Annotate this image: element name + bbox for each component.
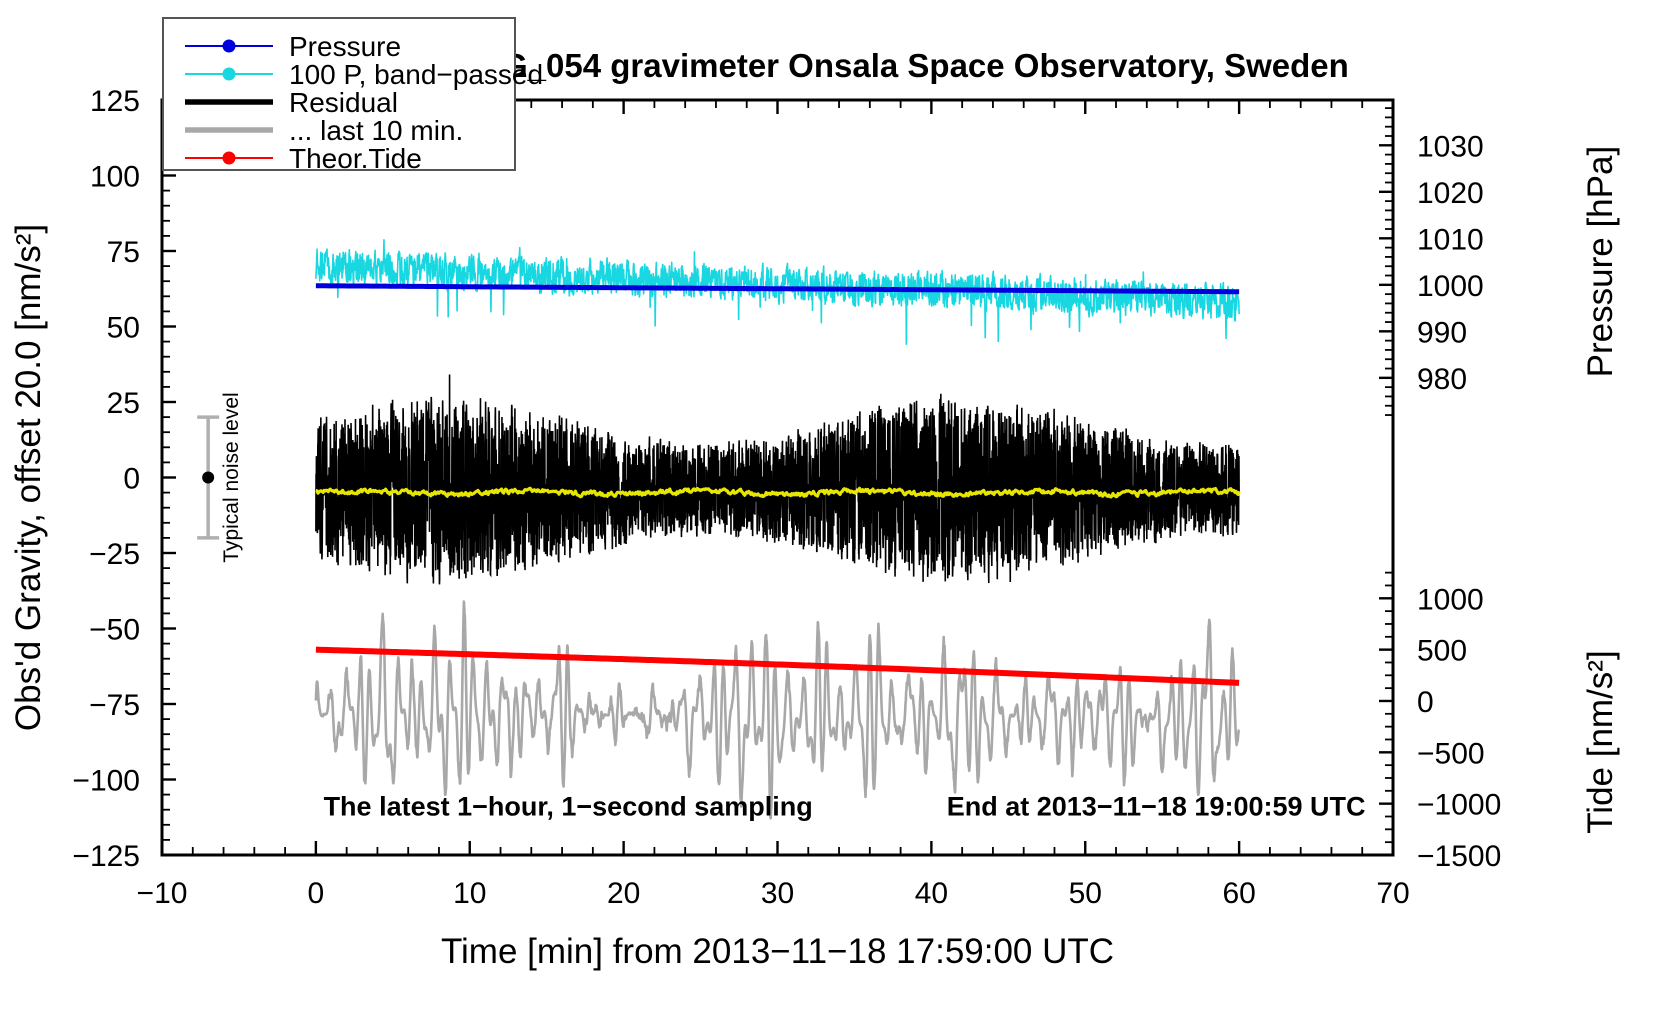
pressure-tick-label: 1000 [1417,270,1484,303]
legend-marker-1 [223,40,236,53]
y-tick-label: 25 [107,387,140,420]
tide-tick-label: −1000 [1417,789,1501,822]
y-tick-label: 0 [123,463,140,496]
legend-label-2[interactable]: 100 P, band−passed [289,59,543,90]
pressure-axis-title: Pressure [hPa] [1581,146,1620,378]
pressure-tick-label: 1030 [1417,130,1484,163]
plot-title: SCG_054 gravimeter Onsala Space Observat… [456,47,1349,84]
x-tick-label: 50 [1069,877,1102,910]
x-tick-label: −10 [137,877,188,910]
legend-label-1[interactable]: Pressure [289,31,401,62]
typical-noise-level-label: Typical noise level [220,392,243,562]
legend-marker-5 [223,152,236,165]
pressure-tick-label: 1020 [1417,177,1484,210]
legend-marker-2 [223,68,236,81]
x-tick-label: 30 [761,877,794,910]
y-tick-label: 75 [107,236,140,269]
tide-axis-title: Tide [nm/s²] [1581,650,1620,833]
legend-label-3[interactable]: Residual [289,87,398,118]
x-tick-label: 10 [453,877,486,910]
chart-canvas: −10010203040506070−125−100−75−50−2502550… [0,0,1660,1020]
pressure-tick-label: 1010 [1417,223,1484,256]
y-tick-label: −100 [72,765,140,798]
y-axis-title: Obs'd Gravity, offset 20.0 [nm/s²] [9,224,48,731]
tide-tick-label: −500 [1417,737,1485,770]
x-tick-label: 60 [1222,877,1255,910]
pressure-tick-label: 990 [1417,316,1467,349]
x-tick-label: 70 [1376,877,1409,910]
y-tick-label: 50 [107,312,140,345]
y-tick-label: −50 [89,614,140,647]
end-time-note: End at 2013−11−18 19:00:59 UTC [947,792,1366,822]
tide-tick-label: −1500 [1417,840,1501,873]
series-last-10-min [316,602,1239,819]
y-tick-label: −125 [72,840,140,873]
legend-label-5[interactable]: Theor.Tide [289,143,422,174]
latest-sampling-note: The latest 1−hour, 1−second sampling [324,792,813,822]
y-tick-label: 100 [90,161,140,194]
gravimeter-plot: −10010203040506070−125−100−75−50−2502550… [0,0,1660,1020]
series-theor-tide [316,650,1239,683]
x-tick-label: 20 [607,877,640,910]
noise-bar-center-dot [202,472,214,484]
x-tick-label: 40 [915,877,948,910]
legend-label-4[interactable]: ... last 10 min. [289,115,463,146]
series-residual [316,375,1239,585]
x-tick-label: 0 [308,877,325,910]
y-tick-label: −25 [89,538,140,571]
tide-tick-label: 500 [1417,635,1467,668]
x-axis-title: Time [min] from 2013−11−18 17:59:00 UTC [441,932,1114,971]
pressure-tick-label: 980 [1417,363,1467,396]
tide-tick-label: 1000 [1417,583,1484,616]
y-tick-label: 125 [90,85,140,118]
y-tick-label: −75 [89,689,140,722]
tide-tick-label: 0 [1417,686,1434,719]
